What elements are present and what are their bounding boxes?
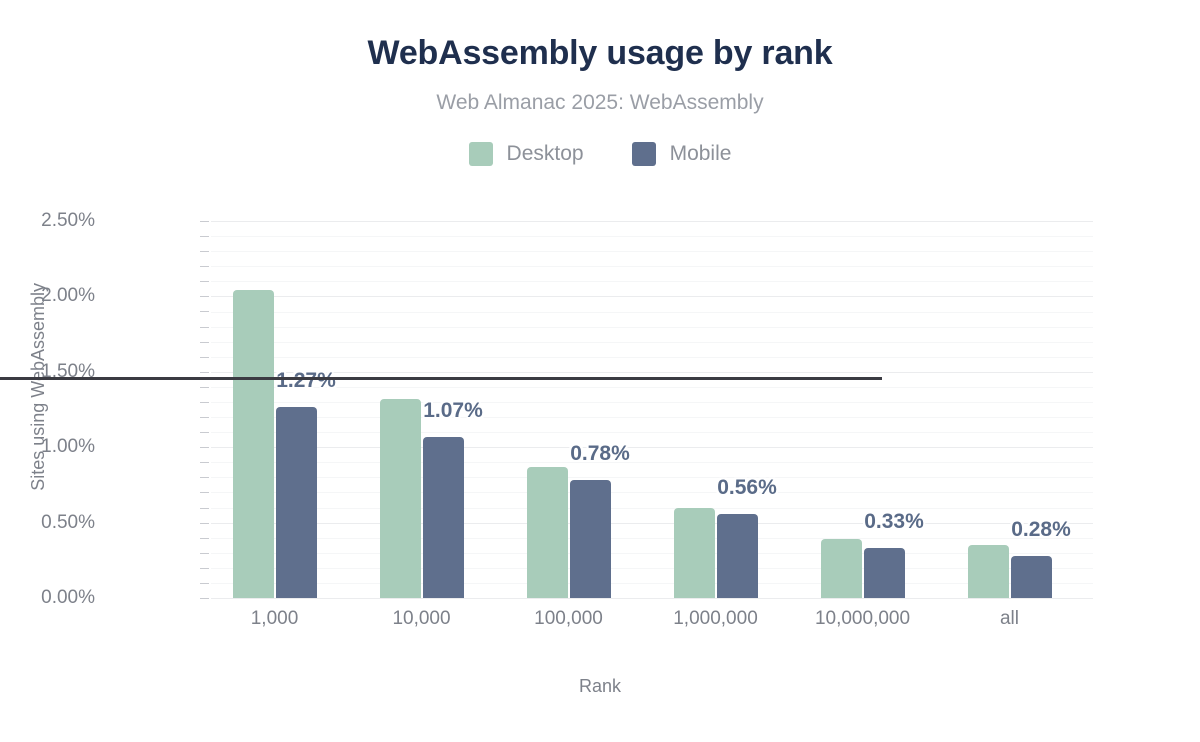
- bar-desktop[interactable]: [233, 290, 274, 598]
- gridline-minor: [211, 583, 1093, 584]
- legend-label: Mobile: [670, 142, 732, 166]
- gridline-minor: [211, 538, 1093, 539]
- gridline-major: [211, 221, 1093, 222]
- y-axis-tick-mark: [200, 387, 209, 388]
- legend-swatch-desktop: [469, 142, 493, 166]
- gridline-minor: [211, 432, 1093, 433]
- gridline-minor: [211, 312, 1093, 313]
- gridline-minor: [211, 266, 1093, 267]
- y-axis-tick-mark: [200, 266, 209, 267]
- bar-desktop[interactable]: [821, 539, 862, 598]
- y-axis-tick-mark: [200, 372, 209, 373]
- y-axis-tick-mark: [200, 221, 209, 222]
- x-axis-baseline: [0, 377, 882, 380]
- y-axis-tick-label: 2.50%: [0, 210, 95, 232]
- y-axis-tick-mark: [200, 492, 209, 493]
- gridline-minor: [211, 387, 1093, 388]
- y-axis-tick-mark: [200, 447, 209, 448]
- y-axis-tick-mark: [200, 523, 209, 524]
- x-axis-tick-label: all: [1000, 608, 1019, 630]
- y-axis-tick-mark: [200, 477, 209, 478]
- y-axis-tick-label: 0.50%: [0, 512, 95, 534]
- gridline-major: [211, 447, 1093, 448]
- gridline-minor: [211, 417, 1093, 418]
- y-axis-tick-mark: [200, 568, 209, 569]
- x-axis-tick-label: 100,000: [534, 608, 603, 630]
- chart-legend: DesktopMobile: [0, 142, 1200, 166]
- x-axis-tick-label: 1,000: [251, 608, 299, 630]
- y-axis-tick-label: 0.00%: [0, 587, 95, 609]
- legend-swatch-mobile: [632, 142, 656, 166]
- y-axis-tick-label: 2.00%: [0, 285, 95, 307]
- gridline-minor: [211, 236, 1093, 237]
- gridline-minor: [211, 508, 1093, 509]
- bar-value-label: 1.27%: [276, 369, 336, 393]
- y-axis-title: Sites using WebAssembly: [28, 283, 50, 491]
- chart-container: WebAssembly usage by rank Web Almanac 20…: [0, 0, 1200, 742]
- plot-area: 1.27%1.07%0.78%0.56%0.33%0.28%: [211, 221, 1093, 598]
- y-axis-tick-mark: [200, 553, 209, 554]
- y-axis-tick-mark: [200, 508, 209, 509]
- bar-mobile[interactable]: [276, 407, 317, 599]
- gridlines: [211, 221, 1093, 598]
- y-axis-tick-mark: [200, 296, 209, 297]
- gridline-minor: [211, 327, 1093, 328]
- bar-desktop[interactable]: [968, 545, 1009, 598]
- gridline-major: [211, 598, 1093, 599]
- gridline-minor: [211, 568, 1093, 569]
- y-axis-tick-mark: [200, 281, 209, 282]
- gridline-minor: [211, 462, 1093, 463]
- chart-title: WebAssembly usage by rank: [0, 34, 1200, 73]
- bar-mobile[interactable]: [717, 514, 758, 598]
- gridline-minor: [211, 402, 1093, 403]
- y-axis-tick-mark: [200, 357, 209, 358]
- y-axis-tick-mark: [200, 251, 209, 252]
- y-axis-tick-mark: [200, 583, 209, 584]
- gridline-minor: [211, 477, 1093, 478]
- gridline-minor: [211, 357, 1093, 358]
- y-axis-tick-mark: [200, 432, 209, 433]
- bar-desktop[interactable]: [527, 467, 568, 598]
- x-axis-title: Rank: [0, 676, 1200, 697]
- bar-value-label: 0.33%: [864, 510, 924, 534]
- y-axis-tick-mark: [200, 311, 209, 312]
- y-axis-tick-mark: [200, 327, 209, 328]
- x-axis-tick-label: 10,000: [392, 608, 450, 630]
- bar-desktop[interactable]: [380, 399, 421, 598]
- y-axis-tick-label: 1.00%: [0, 436, 95, 458]
- bar-desktop[interactable]: [674, 508, 715, 599]
- gridline-minor: [211, 492, 1093, 493]
- gridline-major: [211, 296, 1093, 297]
- gridline-minor: [211, 342, 1093, 343]
- y-axis-tick-mark: [200, 538, 209, 539]
- gridline-major: [211, 372, 1093, 373]
- bar-mobile[interactable]: [864, 548, 905, 598]
- x-axis-tick-label: 1,000,000: [673, 608, 758, 630]
- bar-mobile[interactable]: [1011, 556, 1052, 598]
- bar-value-label: 0.28%: [1011, 518, 1071, 542]
- legend-item-desktop[interactable]: Desktop: [469, 142, 584, 166]
- bar-mobile[interactable]: [570, 480, 611, 598]
- y-axis-tick-mark: [200, 342, 209, 343]
- y-axis-tick-mark: [200, 417, 209, 418]
- legend-label: Desktop: [507, 142, 584, 166]
- y-axis-tick-mark: [200, 598, 209, 599]
- x-axis-tick-label: 10,000,000: [815, 608, 910, 630]
- bar-value-label: 0.56%: [717, 476, 777, 500]
- bar-mobile[interactable]: [423, 437, 464, 598]
- gridline-minor: [211, 251, 1093, 252]
- gridline-minor: [211, 281, 1093, 282]
- chart-subtitle: Web Almanac 2025: WebAssembly: [0, 91, 1200, 115]
- y-axis-tick-mark: [200, 236, 209, 237]
- gridline-minor: [211, 553, 1093, 554]
- gridline-major: [211, 523, 1093, 524]
- bar-value-label: 0.78%: [570, 442, 630, 466]
- y-axis-tick-mark: [200, 462, 209, 463]
- legend-item-mobile[interactable]: Mobile: [632, 142, 732, 166]
- y-axis-tick-mark: [200, 402, 209, 403]
- bar-value-label: 1.07%: [423, 399, 483, 423]
